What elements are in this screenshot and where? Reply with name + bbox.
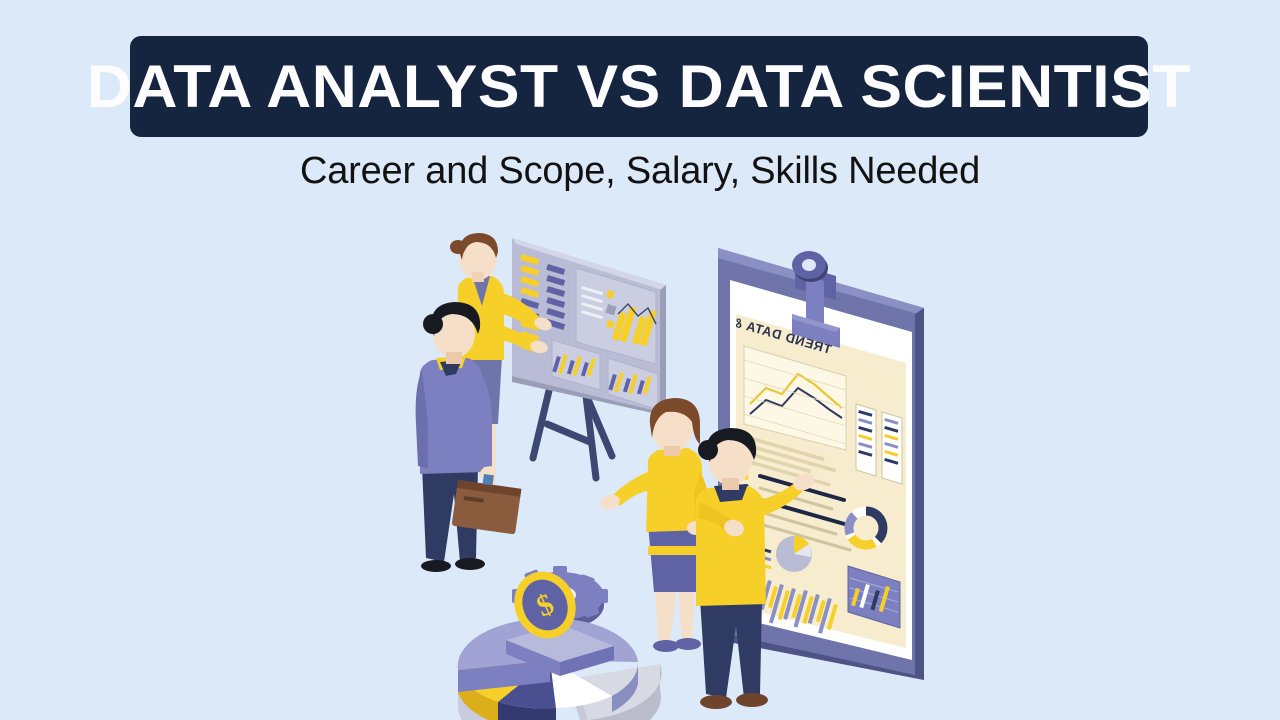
title-band: DATA ANALYST VS DATA SCIENTIST <box>130 36 1148 137</box>
figure-man-with-briefcase <box>416 302 522 572</box>
figure-woman-pointing <box>598 398 709 652</box>
page-title: DATA ANALYST VS DATA SCIENTIST <box>87 57 1191 117</box>
poster-canvas: DATA ANALYST VS DATA SCIENTIST Career an… <box>0 0 1280 720</box>
page-subtitle: Career and Scope, Salary, Skills Needed <box>0 150 1280 193</box>
data-team-illustration: TREND DATA & ANALYTICS <box>400 228 960 720</box>
easel-whiteboard <box>512 238 666 478</box>
briefcase <box>452 474 522 534</box>
